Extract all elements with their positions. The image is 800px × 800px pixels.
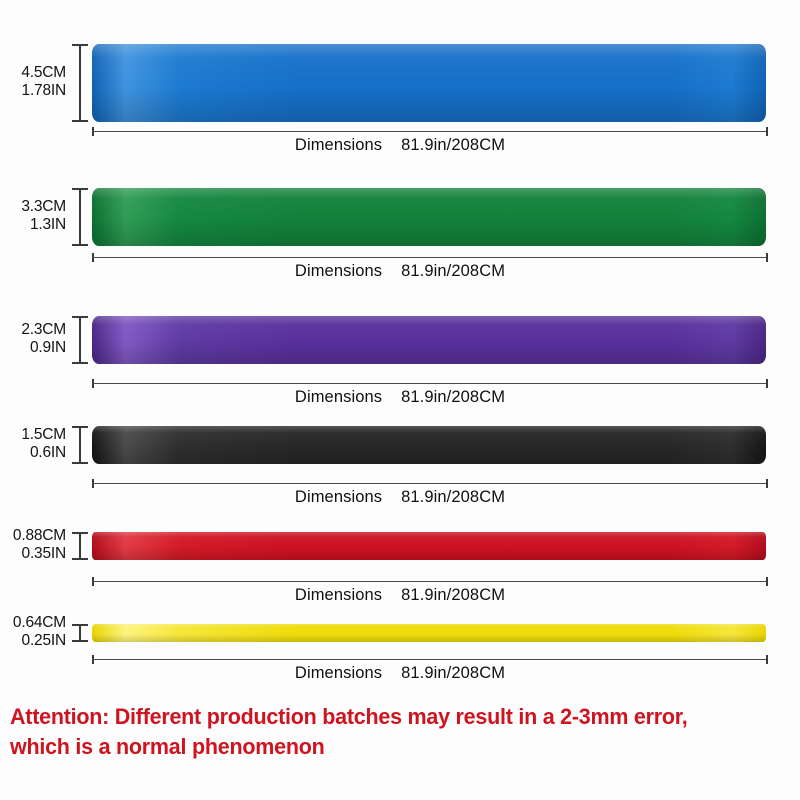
- dimension-stem: [79, 316, 81, 364]
- resistance-band-purple: [92, 316, 766, 364]
- length-dimension-line-blue: [92, 127, 768, 136]
- thickness-dimension-line-blue: [70, 44, 90, 122]
- length-tick-right: [766, 655, 768, 664]
- length-caption-label: Dimensions: [295, 388, 382, 406]
- length-caption-purple: Dimensions81.9in/208CM: [0, 388, 800, 407]
- length-caption-value: 81.9in/208CM: [401, 136, 505, 154]
- length-dimension-line-green: [92, 253, 768, 262]
- length-caption-red: Dimensions81.9in/208CM: [0, 586, 800, 605]
- thickness-dimension-line-green: [70, 188, 90, 246]
- length-line: [92, 581, 768, 582]
- thickness-dimension-line-purple: [70, 316, 90, 364]
- length-dimension-line-purple: [92, 379, 768, 388]
- length-caption-value: 81.9in/208CM: [401, 586, 505, 604]
- thickness-label-blue: 4.5CM1.78IN: [0, 64, 66, 100]
- length-tick-right: [766, 379, 768, 388]
- thickness-in-purple: 0.9IN: [0, 339, 66, 357]
- length-line: [92, 659, 768, 660]
- thickness-cm-red: 0.88CM: [0, 527, 66, 545]
- thickness-label-yellow: 0.64CM0.25IN: [0, 614, 66, 650]
- thickness-cm-purple: 2.3CM: [0, 321, 66, 339]
- thickness-label-red: 0.88CM0.35IN: [0, 527, 66, 563]
- length-line: [92, 257, 768, 258]
- thickness-cm-green: 3.3CM: [0, 198, 66, 216]
- thickness-in-green: 1.3IN: [0, 216, 66, 234]
- thickness-in-red: 0.35IN: [0, 545, 66, 563]
- length-caption-label: Dimensions: [295, 586, 382, 604]
- length-caption-label: Dimensions: [295, 136, 382, 154]
- thickness-label-black: 1.5CM0.6IN: [0, 426, 66, 462]
- length-dimension-line-yellow: [92, 655, 768, 664]
- length-dimension-line-red: [92, 577, 768, 586]
- dimension-cap-bottom: [72, 244, 88, 246]
- length-tick-right: [766, 253, 768, 262]
- length-tick-right: [766, 479, 768, 488]
- thickness-label-purple: 2.3CM0.9IN: [0, 321, 66, 357]
- length-caption-blue: Dimensions81.9in/208CM: [0, 136, 800, 155]
- length-line: [92, 483, 768, 484]
- thickness-label-green: 3.3CM1.3IN: [0, 198, 66, 234]
- length-caption-green: Dimensions81.9in/208CM: [0, 262, 800, 281]
- thickness-dimension-line-yellow: [70, 624, 90, 642]
- dimension-stem: [79, 426, 81, 464]
- dimension-stem: [79, 44, 81, 122]
- length-tick-right: [766, 577, 768, 586]
- length-line: [92, 131, 768, 132]
- thickness-cm-black: 1.5CM: [0, 426, 66, 444]
- length-dimension-line-black: [92, 479, 768, 488]
- dimension-cap-bottom: [72, 558, 88, 560]
- resistance-band-red: [92, 532, 766, 560]
- thickness-in-yellow: 0.25IN: [0, 632, 66, 650]
- length-tick-right: [766, 127, 768, 136]
- dimension-cap-bottom: [72, 462, 88, 464]
- length-caption-value: 81.9in/208CM: [401, 388, 505, 406]
- thickness-in-blue: 1.78IN: [0, 82, 66, 100]
- thickness-dimension-line-red: [70, 532, 90, 560]
- length-caption-value: 81.9in/208CM: [401, 664, 505, 682]
- resistance-band-blue: [92, 44, 766, 122]
- length-caption-label: Dimensions: [295, 262, 382, 280]
- attention-line-1: Attention: Different production batches …: [10, 704, 687, 729]
- thickness-dimension-line-black: [70, 426, 90, 464]
- length-caption-yellow: Dimensions81.9in/208CM: [0, 664, 800, 683]
- resistance-band-black: [92, 426, 766, 464]
- length-caption-label: Dimensions: [295, 664, 382, 682]
- length-caption-label: Dimensions: [295, 488, 382, 506]
- thickness-cm-yellow: 0.64CM: [0, 614, 66, 632]
- attention-line-2: which is a normal phenomenon: [10, 732, 759, 762]
- resistance-band-yellow: [92, 624, 766, 642]
- dimension-stem: [79, 532, 81, 560]
- resistance-band-green: [92, 188, 766, 246]
- dimension-cap-bottom: [72, 640, 88, 642]
- dimension-cap-bottom: [72, 362, 88, 364]
- dimension-diagram: 4.5CM1.78INDimensions81.9in/208CM3.3CM1.…: [0, 0, 800, 800]
- thickness-in-black: 0.6IN: [0, 444, 66, 462]
- attention-notice: Attention: Different production batches …: [10, 702, 759, 761]
- length-caption-value: 81.9in/208CM: [401, 488, 505, 506]
- thickness-cm-blue: 4.5CM: [0, 64, 66, 82]
- dimension-cap-bottom: [72, 120, 88, 122]
- length-caption-value: 81.9in/208CM: [401, 262, 505, 280]
- dimension-stem: [79, 188, 81, 246]
- length-caption-black: Dimensions81.9in/208CM: [0, 488, 800, 507]
- length-line: [92, 383, 768, 384]
